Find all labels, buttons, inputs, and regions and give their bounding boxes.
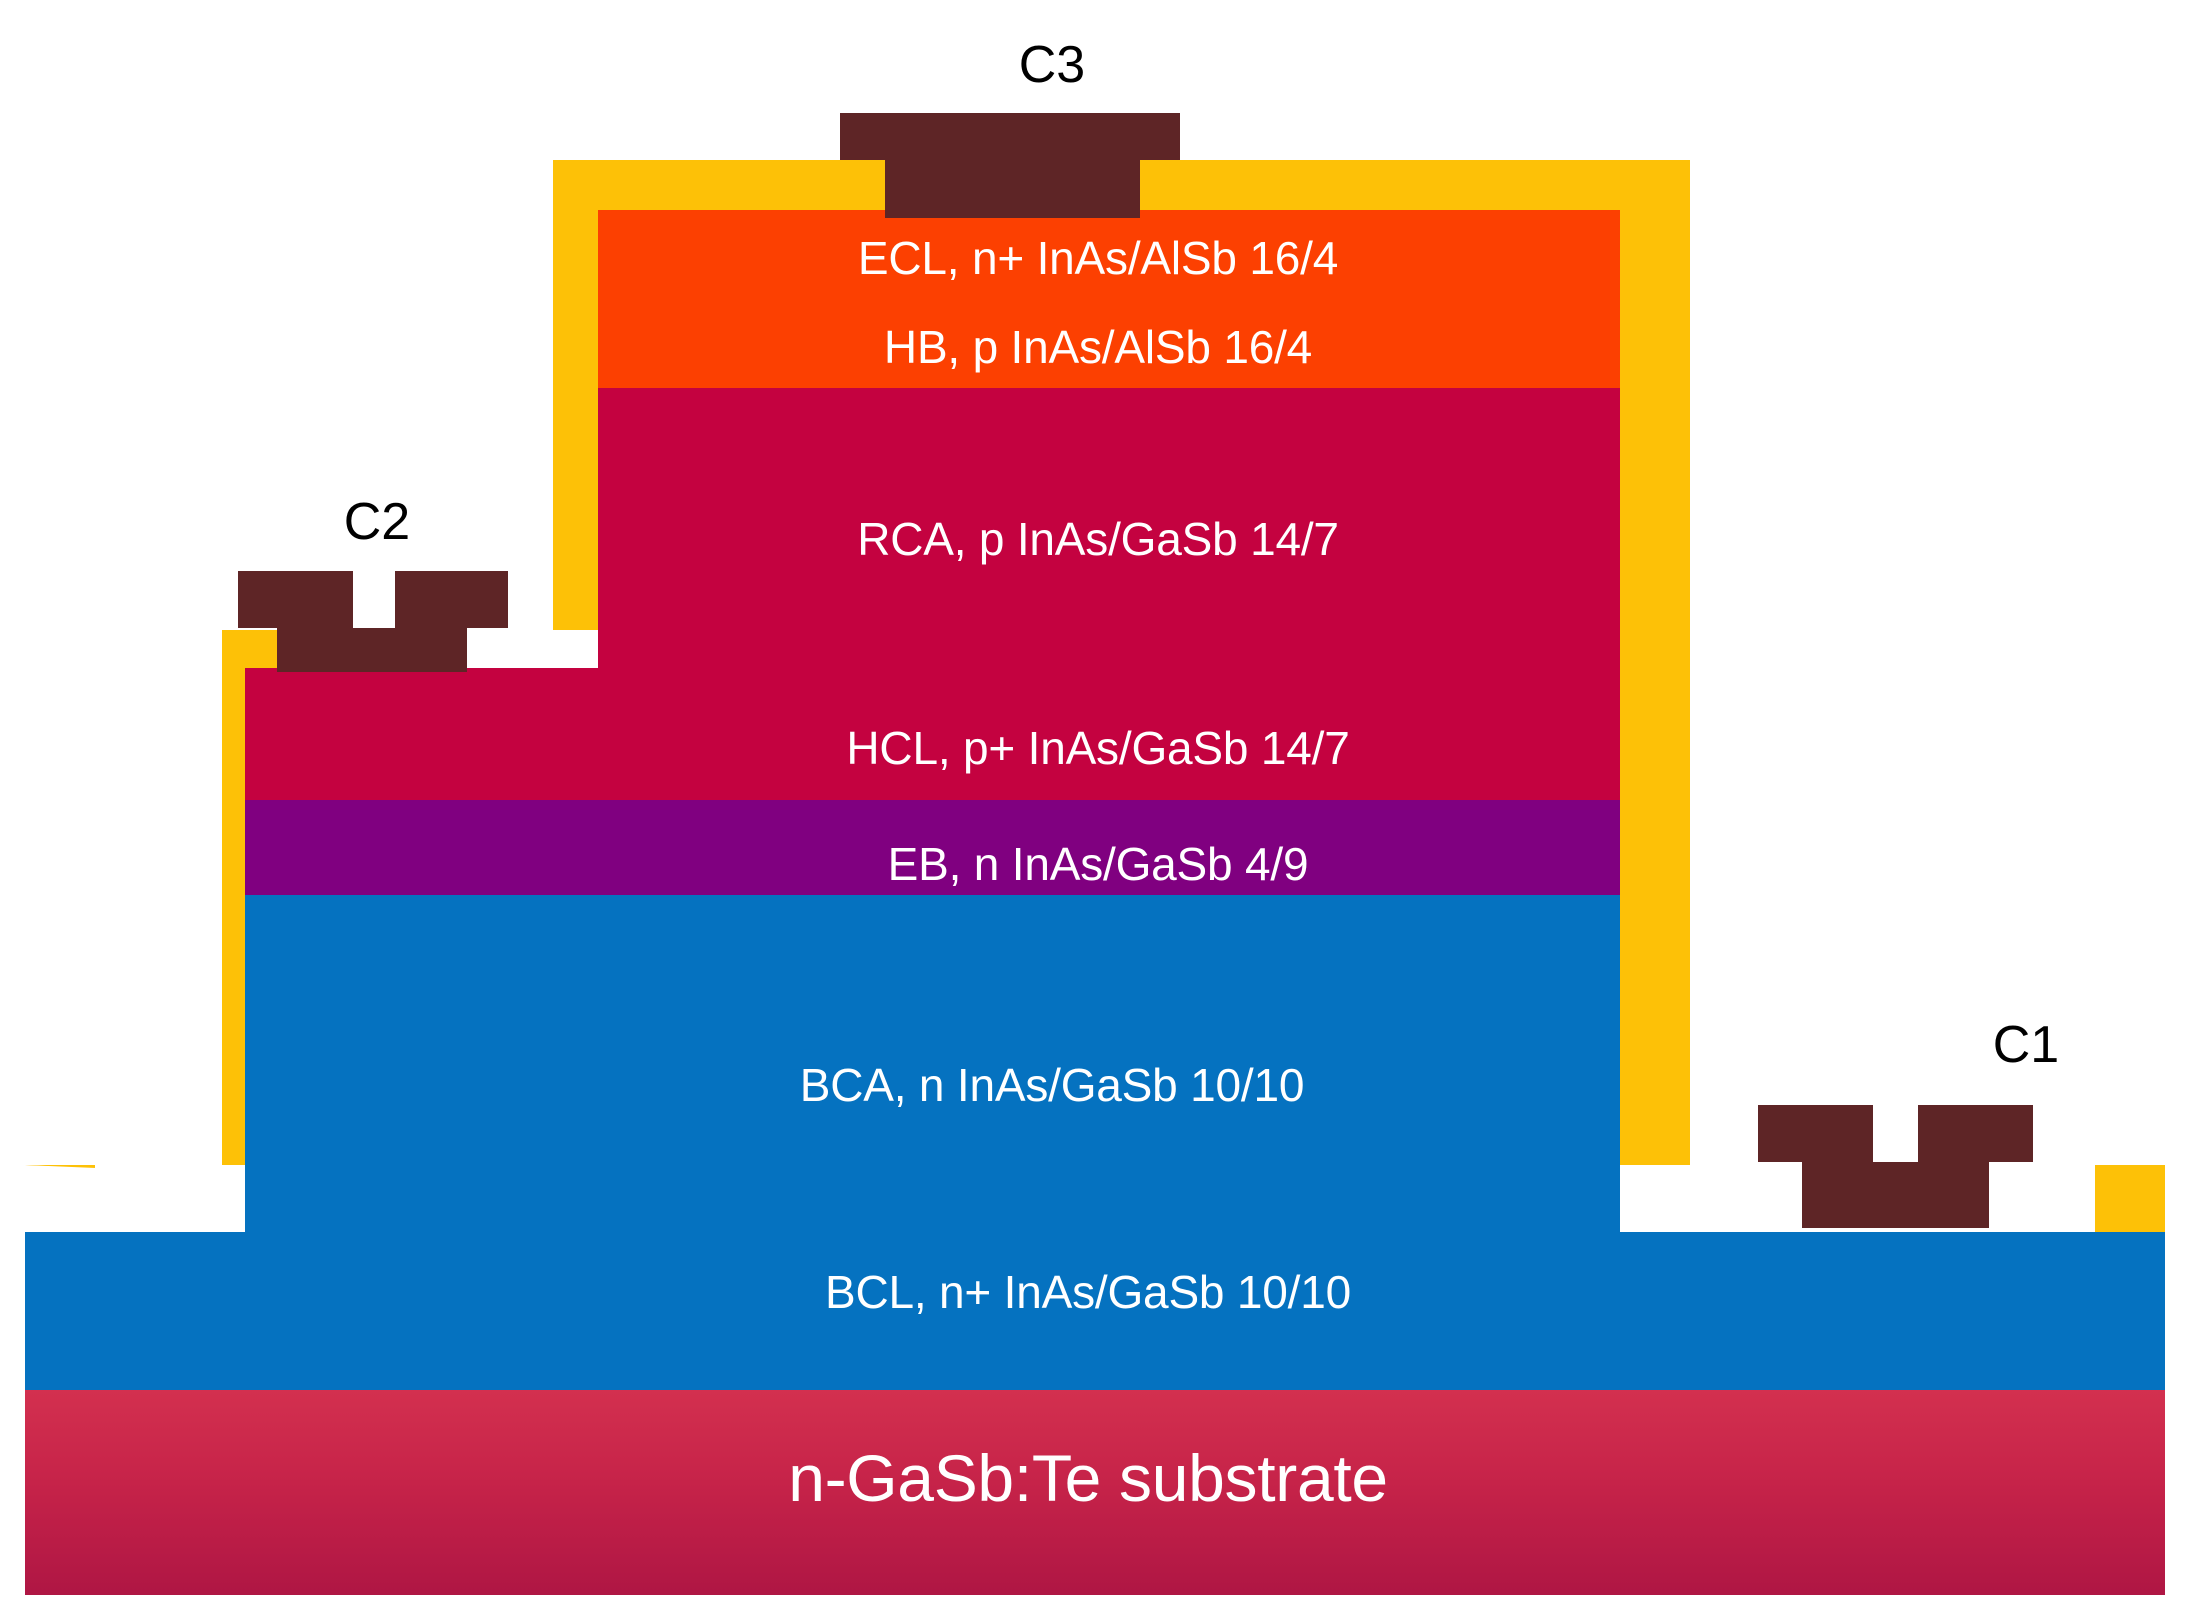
contact-label-c3: C3 [1019, 35, 1085, 95]
layer-label-bcl: BCL, n+ InAs/GaSb 10/10 [825, 1265, 1351, 1319]
layer-label-hcl: HCL, p+ InAs/GaSb 14/7 [846, 721, 1349, 775]
contact-label-c2: C2 [344, 492, 410, 552]
substrate-label: n-GaSb:Te substrate [788, 1440, 1388, 1516]
device-cross-section-figure: C3 C2 C1 ECL, n+ InAs/AlSb 16/4 HB, p In… [0, 0, 2190, 1599]
layer-label-ecl: ECL, n+ InAs/AlSb 16/4 [858, 231, 1338, 285]
layer-label-rca: RCA, p InAs/GaSb 14/7 [857, 512, 1339, 566]
layer-label-bca: BCA, n InAs/GaSb 10/10 [800, 1058, 1304, 1112]
layer-label-eb: EB, n InAs/GaSb 4/9 [888, 837, 1309, 891]
contact-label-c1: C1 [1993, 1015, 2059, 1075]
layer-label-hb: HB, p InAs/AlSb 16/4 [884, 320, 1312, 374]
